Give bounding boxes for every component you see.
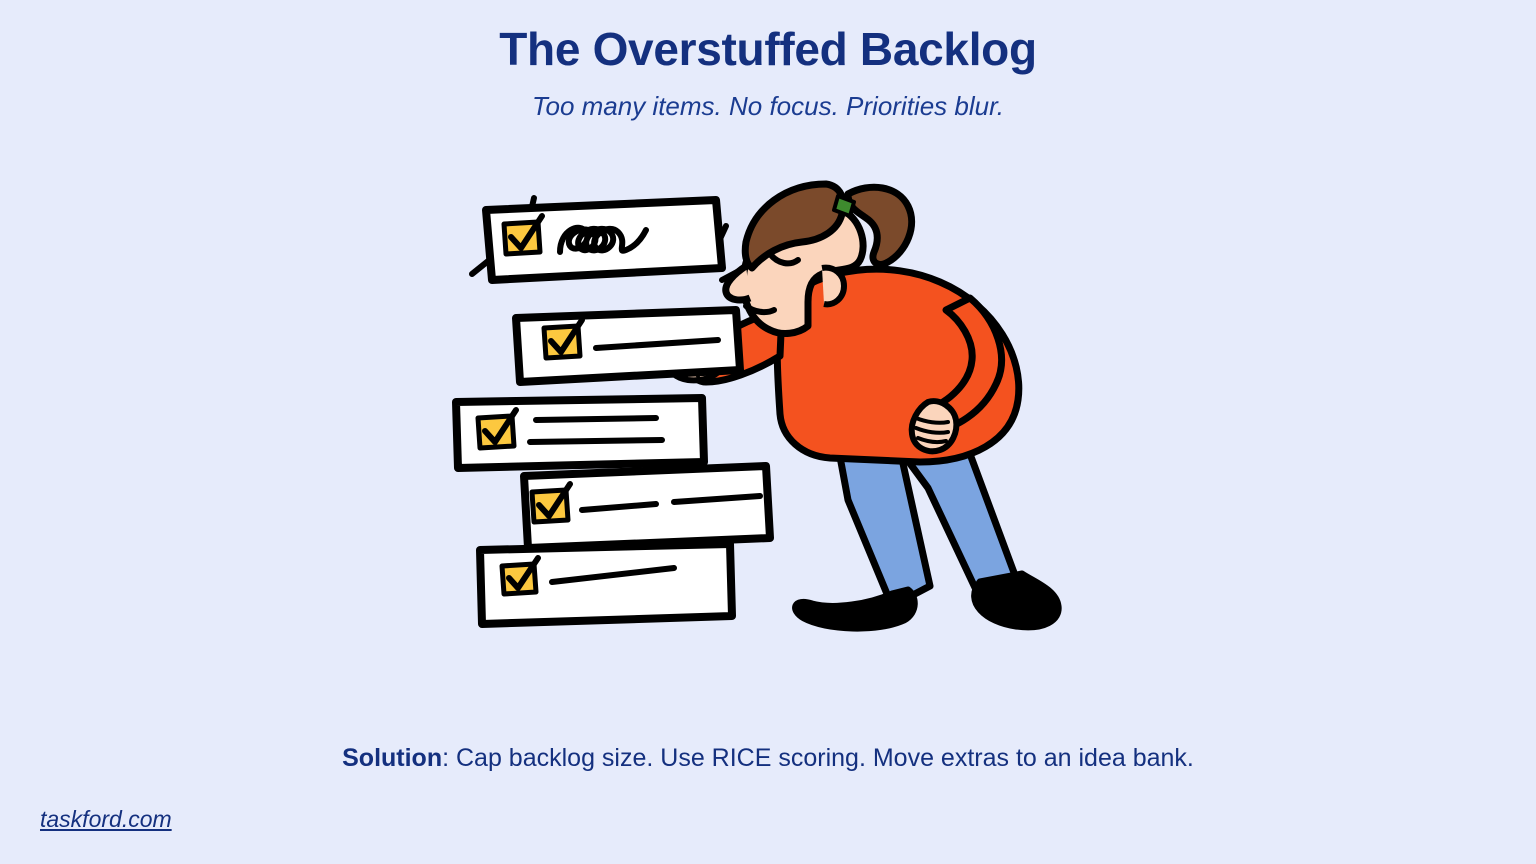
solution-line: Solution: Cap backlog size. Use RICE sco…	[0, 742, 1536, 775]
poster-canvas: The Overstuffed Backlog Too many items. …	[0, 0, 1536, 864]
page-subtitle: Too many items. No focus. Priorities blu…	[0, 91, 1536, 122]
person-shoe-front	[975, 574, 1059, 627]
backlog-illustration	[430, 170, 1110, 670]
checkbox-checked-icon[interactable]	[502, 558, 538, 594]
person-shoe-back	[796, 590, 915, 628]
illustration-container	[430, 170, 1110, 670]
site-link[interactable]: taskford.com	[40, 806, 172, 833]
checkbox-checked-icon[interactable]	[478, 410, 516, 448]
person-ear	[822, 268, 844, 305]
header: The Overstuffed Backlog Too many items. …	[0, 0, 1536, 122]
task-card-5-bottom[interactable]	[480, 544, 732, 624]
person-nose	[726, 266, 750, 300]
task-card-1-top[interactable]	[486, 200, 722, 280]
solution-text: : Cap backlog size. Use RICE scoring. Mo…	[442, 744, 1194, 772]
checkbox-checked-icon[interactable]	[544, 320, 582, 358]
page-title: The Overstuffed Backlog	[0, 22, 1536, 77]
task-card-text-line	[530, 440, 662, 442]
checkbox-checked-icon[interactable]	[532, 484, 570, 522]
person-hair-tie	[834, 196, 854, 216]
task-card-2[interactable]	[516, 310, 740, 382]
task-card-3[interactable]	[456, 398, 704, 468]
task-card-text-line	[536, 418, 656, 420]
task-card-4[interactable]	[524, 466, 770, 548]
solution-label: Solution	[342, 744, 442, 772]
checkbox-checked-icon[interactable]	[504, 216, 542, 254]
